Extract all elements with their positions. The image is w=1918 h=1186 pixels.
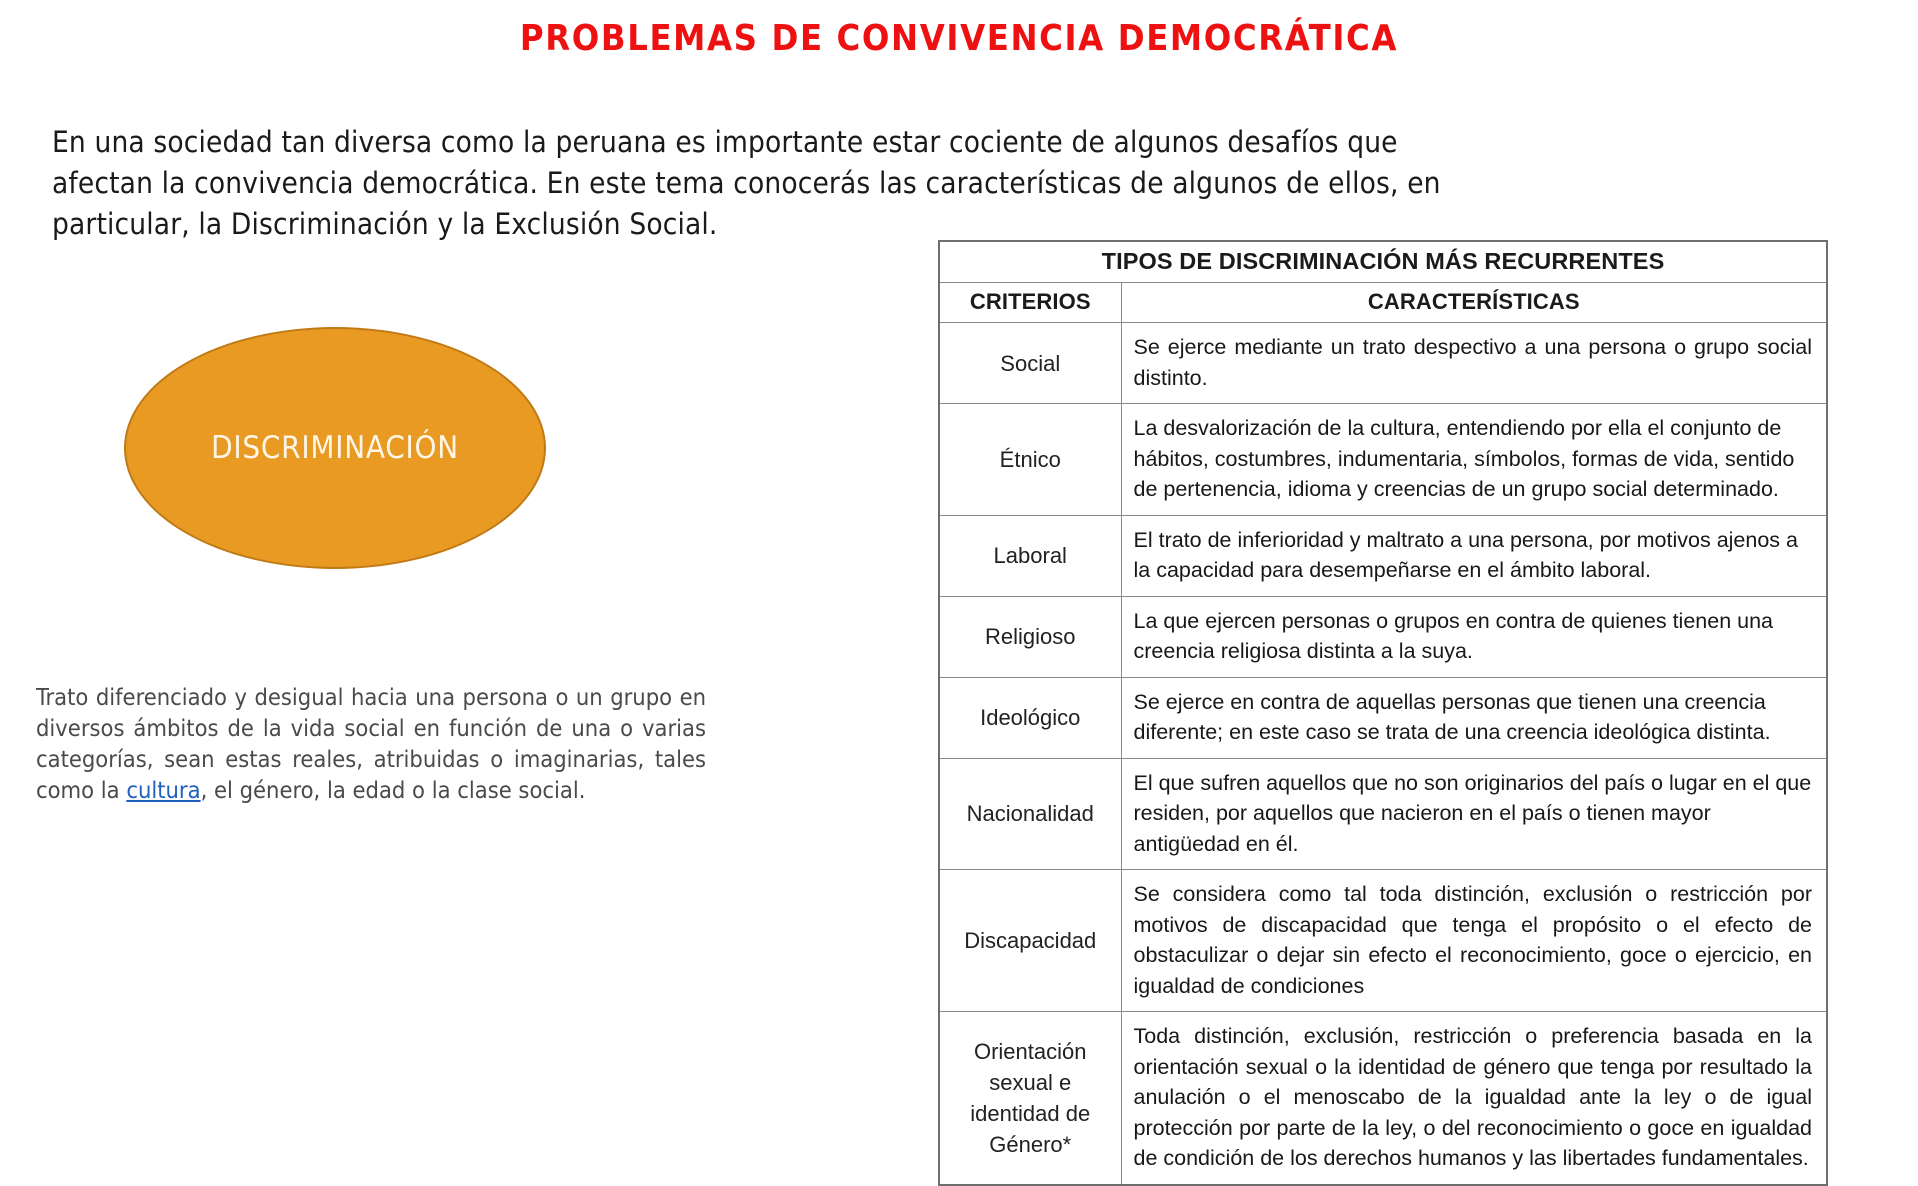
discrimination-ellipse-label: DISCRIMINACIÓN xyxy=(206,428,464,469)
caracteristica-cell: Se ejerce en contra de aquellas personas… xyxy=(1121,677,1827,758)
criterio-cell: Ideológico xyxy=(939,677,1121,758)
table-title: TIPOS DE DISCRIMINACIÓN MÁS RECURRENTES xyxy=(939,241,1827,283)
intro-paragraph: En una sociedad tan diversa como la peru… xyxy=(52,122,1472,245)
caracteristica-cell: La que ejercen personas o grupos en cont… xyxy=(1121,596,1827,677)
table-row: SocialSe ejerce mediante un trato despec… xyxy=(939,323,1827,404)
discrimination-types-table: TIPOS DE DISCRIMINACIÓN MÁS RECURRENTES … xyxy=(938,240,1828,1186)
table-row: LaboralEl trato de inferioridad y maltra… xyxy=(939,515,1827,596)
column-header-criterios: CRITERIOS xyxy=(939,283,1121,323)
criterio-cell: Nacionalidad xyxy=(939,758,1121,870)
definition-text-part2: , el género, la edad o la clase social. xyxy=(201,776,586,804)
table-row: NacionalidadEl que sufren aquellos que n… xyxy=(939,758,1827,870)
discrimination-ellipse-shape: DISCRIMINACIÓN xyxy=(124,327,546,569)
criterio-cell: Discapacidad xyxy=(939,870,1121,1012)
criterio-cell: Laboral xyxy=(939,515,1121,596)
table-header-row: CRITERIOS CARACTERÍSTICAS xyxy=(939,283,1827,323)
table-row: Orientación sexual e identidad de Género… xyxy=(939,1012,1827,1185)
caracteristica-cell: Se ejerce mediante un trato despectivo a… xyxy=(1121,323,1827,404)
table-row: ReligiosoLa que ejercen personas o grupo… xyxy=(939,596,1827,677)
table-row: DiscapacidadSe considera como tal toda d… xyxy=(939,870,1827,1012)
table-row: ÉtnicoLa desvalorización de la cultura, … xyxy=(939,404,1827,516)
criterio-cell: Religioso xyxy=(939,596,1121,677)
discrimination-definition: Trato diferenciado y desigual hacia una … xyxy=(36,682,706,806)
caracteristica-cell: La desvalorización de la cultura, entend… xyxy=(1121,404,1827,516)
cultura-link[interactable]: cultura xyxy=(126,776,200,804)
caracteristica-cell: El trato de inferioridad y maltrato a un… xyxy=(1121,515,1827,596)
caracteristica-cell: Se considera como tal toda distinción, e… xyxy=(1121,870,1827,1012)
column-header-caracteristicas: CARACTERÍSTICAS xyxy=(1121,283,1827,323)
table-title-row: TIPOS DE DISCRIMINACIÓN MÁS RECURRENTES xyxy=(939,241,1827,283)
table-row: IdeológicoSe ejerce en contra de aquella… xyxy=(939,677,1827,758)
criterio-cell: Social xyxy=(939,323,1121,404)
discrimination-types-table-container: TIPOS DE DISCRIMINACIÓN MÁS RECURRENTES … xyxy=(938,240,1828,1186)
criterio-cell: Orientación sexual e identidad de Género… xyxy=(939,1012,1121,1185)
caracteristica-cell: Toda distinción, exclusión, restricción … xyxy=(1121,1012,1827,1185)
criterio-cell: Étnico xyxy=(939,404,1121,516)
page-title: PROBLEMAS DE CONVIVENCIA DEMOCRÁTICA xyxy=(0,18,1918,59)
caracteristica-cell: El que sufren aquellos que no son origin… xyxy=(1121,758,1827,870)
